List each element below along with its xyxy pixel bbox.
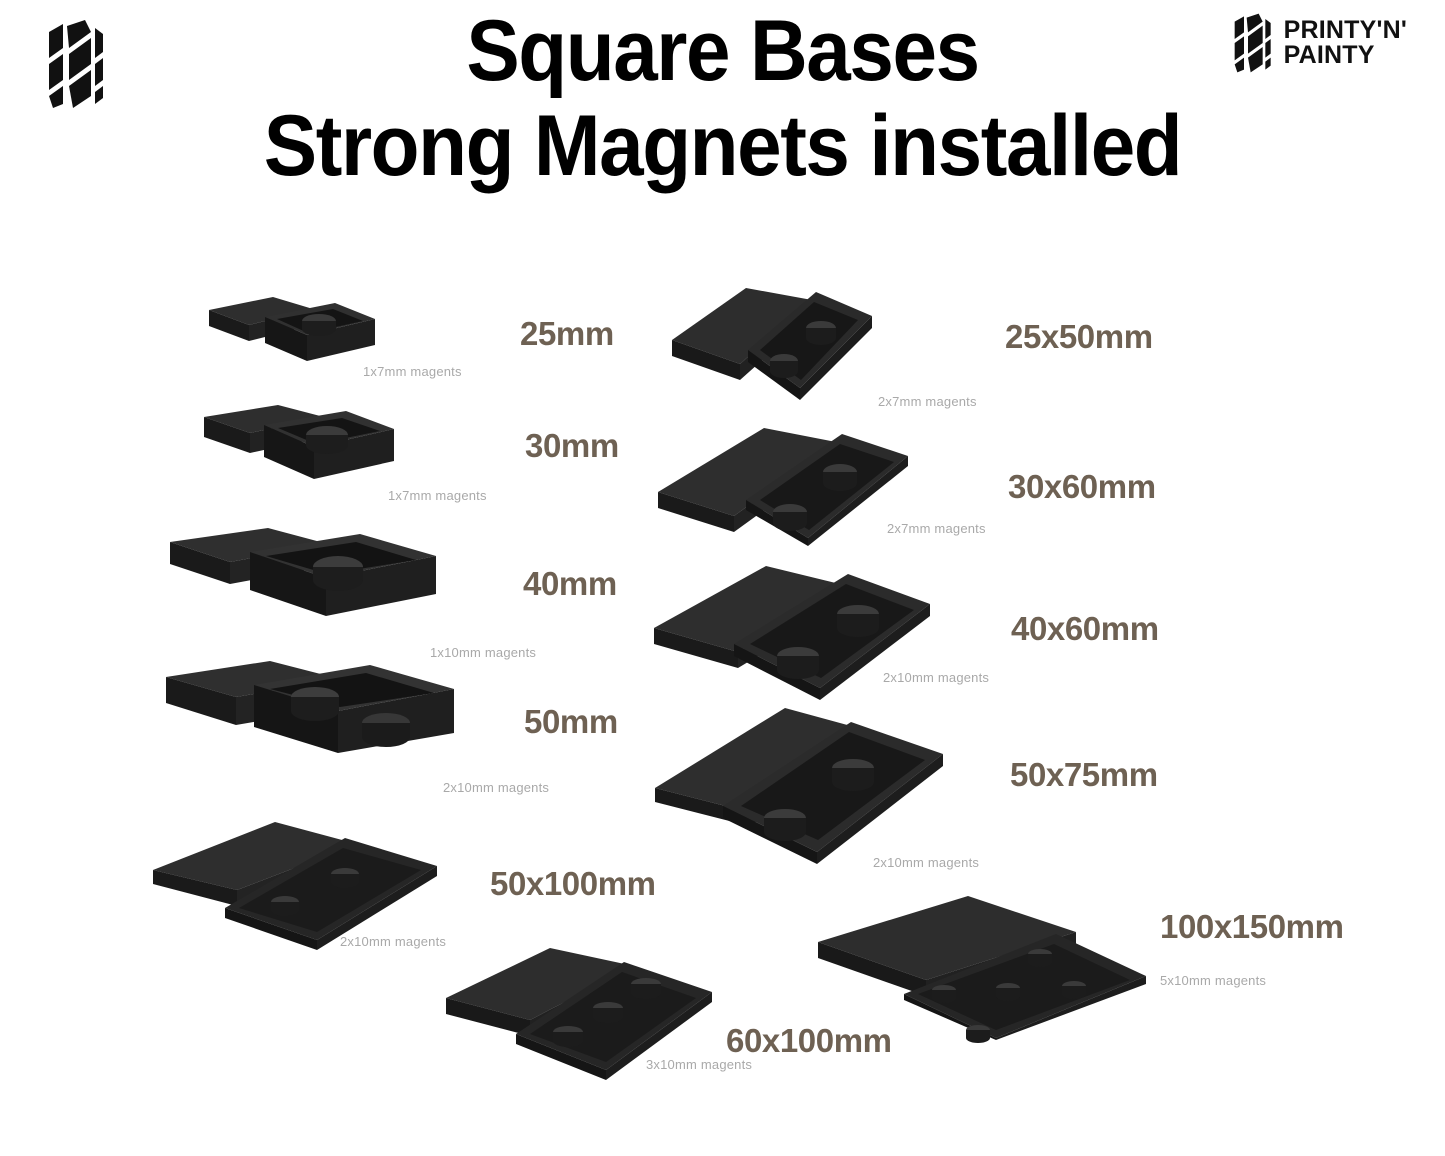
product-100x150mm: 100x150mm 5x10mm magents [808, 890, 1368, 1050]
size-label-25mm: 25mm [520, 315, 614, 353]
magnet-cylinder [823, 464, 857, 491]
magnet-cylinder [777, 647, 819, 679]
size-label-40x60mm: 40x60mm [1011, 610, 1159, 648]
magnet-cylinder [593, 1002, 623, 1023]
magnet-caption-100x150mm: 5x10mm magents [1160, 973, 1266, 988]
magnet-caption-25mm: 1x7mm magents [363, 364, 462, 379]
magnet-cylinder [306, 426, 348, 454]
magnet-cylinder [1062, 981, 1086, 999]
size-label-40mm: 40mm [523, 565, 617, 603]
magnet-caption-30x60mm: 2x7mm magents [887, 521, 986, 536]
product-infographic: Square Bases Strong Magnets installed [0, 0, 1445, 1156]
brand-lockup: PRINTY'N' PAINTY [1224, 12, 1407, 74]
product-30x60mm: 30x60mm 2x7mm magents [650, 420, 1195, 545]
product-25x50mm: 25x50mm 2x7mm magents [660, 278, 1200, 413]
magnet-cylinder [553, 1026, 583, 1047]
base-pair-render-25x50mm [660, 278, 920, 403]
magnet-cylinder [806, 321, 836, 345]
brand-wordmark: PRINTY'N' PAINTY [1284, 18, 1407, 69]
base-pair-render-25mm [195, 285, 385, 380]
base-pair-render-50x75mm [645, 700, 965, 870]
magnet-caption-30mm: 1x7mm magents [388, 488, 487, 503]
product-50x75mm: 50x75mm 2x10mm magents [645, 700, 1195, 875]
magnet-cylinder [996, 983, 1020, 1001]
magnet-cylinder [770, 354, 798, 378]
magnet-cylinder [773, 504, 807, 531]
magnet-caption-50x75mm: 2x10mm magents [873, 855, 979, 870]
base-pair-render-100x150mm [808, 890, 1158, 1040]
product-25mm: 25mm 1x7mm magents [195, 285, 665, 390]
magnet-caption-25x50mm: 2x7mm magents [878, 394, 977, 409]
magnet-caption-40x60mm: 2x10mm magents [883, 670, 989, 685]
brand-logo-icon-small [1224, 12, 1276, 74]
size-label-100x150mm: 100x150mm [1160, 908, 1344, 946]
magnet-cylinder [291, 687, 339, 721]
magnet-cylinder [631, 978, 661, 999]
magnet-cylinder [764, 809, 806, 841]
brand-wordmark-line-2: PAINTY [1284, 43, 1407, 69]
size-label-50x100mm: 50x100mm [490, 865, 656, 903]
size-label-50mm: 50mm [524, 703, 618, 741]
base-pair-render-40mm [160, 520, 450, 655]
product-40x60mm: 40x60mm 2x10mm magents [648, 560, 1193, 700]
magnet-cylinder [302, 314, 336, 336]
product-30mm: 30mm 1x7mm magents [190, 395, 660, 510]
magnet-caption-60x100mm: 3x10mm magents [646, 1057, 752, 1072]
product-40mm: 40mm 1x10mm magents [160, 520, 660, 665]
magnet-caption-50x100mm: 2x10mm magents [340, 934, 446, 949]
product-50mm: 50mm 2x10mm magents [158, 655, 668, 805]
magnet-cylinder [932, 985, 956, 1003]
magnet-cylinder [313, 556, 363, 591]
magnet-cylinder [1028, 949, 1052, 967]
brand-wordmark-line-1: PRINTY'N' [1284, 18, 1407, 44]
base-pair-render-50mm [158, 655, 468, 795]
magnet-cylinder [837, 605, 879, 637]
magnet-cylinder [966, 1025, 990, 1043]
size-label-25x50mm: 25x50mm [1005, 318, 1153, 356]
magnet-cylinder [362, 713, 410, 747]
magnet-cylinder [832, 759, 874, 791]
size-label-50x75mm: 50x75mm [1010, 756, 1158, 794]
brand-logo-icon [33, 18, 111, 110]
title-line-secondary: Strong Magnets installed [51, 96, 1395, 197]
base-pair-render-30mm [190, 395, 405, 500]
size-label-30x60mm: 30x60mm [1008, 468, 1156, 506]
title-line-primary: Square Bases [51, 8, 1395, 96]
size-label-30mm: 30mm [525, 427, 619, 465]
magnet-caption-50mm: 2x10mm magents [443, 780, 549, 795]
magnet-cylinder [331, 868, 359, 888]
magnet-cylinder [271, 896, 299, 916]
